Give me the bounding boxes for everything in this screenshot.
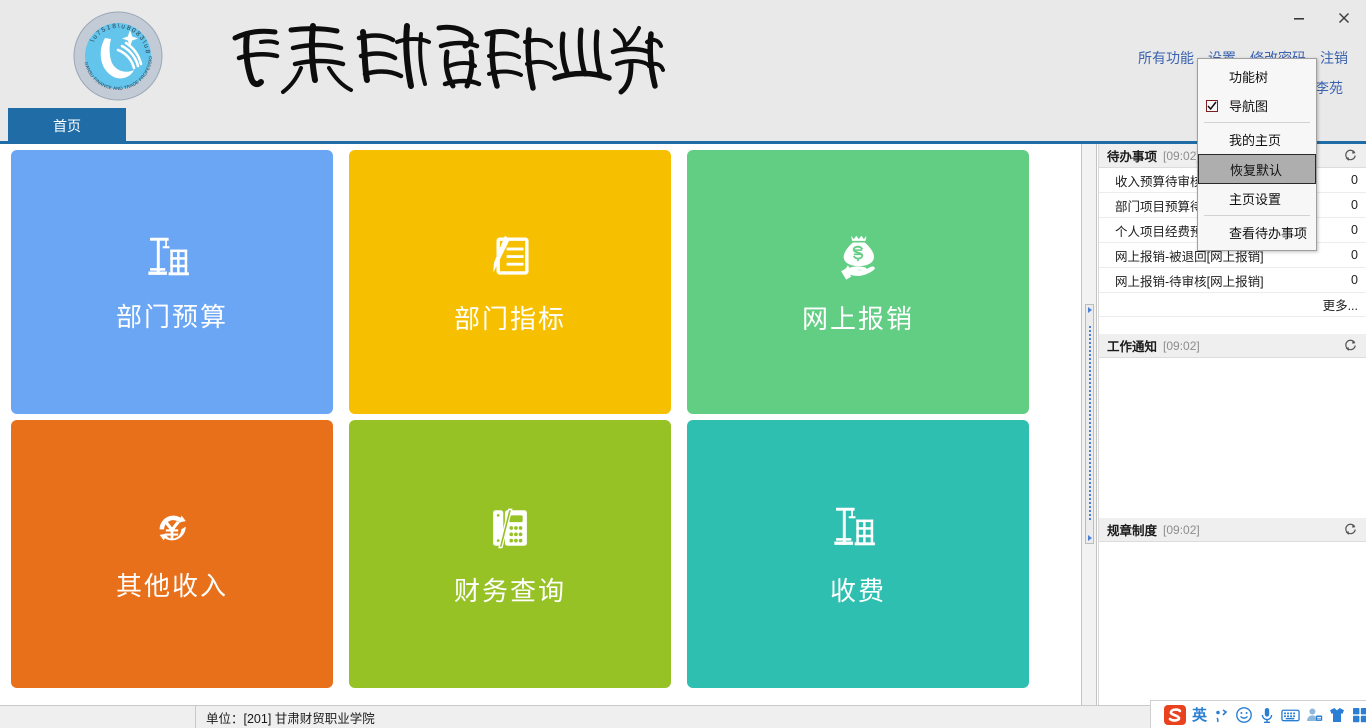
splitter-arrow-down-icon xyxy=(1088,535,1092,541)
tile-other-income[interactable]: 其他收入 xyxy=(11,420,333,688)
menu-item-label: 恢复默认 xyxy=(1230,160,1282,179)
todo-label: 收入预算待审核 xyxy=(1115,171,1203,190)
tile-label: 部门预算 xyxy=(116,297,228,334)
tile-label: 部门指标 xyxy=(454,299,566,336)
todo-count: 0 xyxy=(1351,198,1358,212)
menu-item-function-tree[interactable]: 功能树 xyxy=(1198,62,1316,91)
tile-label: 其他收入 xyxy=(116,566,228,603)
user-account-icon[interactable] xyxy=(1305,705,1323,724)
notice-panel-title: 工作通知 xyxy=(1107,336,1157,355)
yuan-recycle-icon xyxy=(150,506,194,550)
tiles-grid: 部门预算 部门指标 xyxy=(11,150,1029,688)
todo-more-link[interactable]: 更多... xyxy=(1099,293,1366,317)
menu-item-label: 我的主页 xyxy=(1229,130,1281,149)
window-controls xyxy=(1276,0,1366,36)
rules-panel-title: 规章制度 xyxy=(1107,520,1157,539)
todo-count: 0 xyxy=(1351,273,1358,287)
todo-count: 0 xyxy=(1351,248,1358,262)
splitter-grip[interactable] xyxy=(1085,304,1094,544)
tile-finance-query[interactable]: 财务查询 xyxy=(349,420,671,688)
current-user-name: 李苑 xyxy=(1315,78,1343,98)
crane-building-icon xyxy=(831,501,885,555)
refresh-icon[interactable] xyxy=(1343,338,1358,353)
list-item[interactable]: 网上报销-待审核[网上报销] 0 xyxy=(1099,268,1366,293)
todo-label: 网上报销-待审核[网上报销] xyxy=(1115,271,1264,290)
splitter-arrow-up-icon xyxy=(1088,307,1092,313)
toolbox-grid-icon[interactable] xyxy=(1351,705,1366,724)
close-icon[interactable] xyxy=(1321,3,1366,33)
tab-home[interactable]: 首页 xyxy=(8,108,126,143)
pen-document-icon xyxy=(483,229,537,283)
todo-panel-time: [09:02] xyxy=(1163,149,1200,163)
refresh-icon[interactable] xyxy=(1343,522,1358,537)
menu-item-label: 查看待办事项 xyxy=(1229,223,1307,242)
notice-panel-body xyxy=(1099,358,1366,518)
app-header: \u7518\u8083\u8d22\u8d38\u804c\u4e1a\u5b… xyxy=(0,0,1366,108)
menu-item-navigation-map[interactable]: 导航图 xyxy=(1198,91,1316,120)
menu-separator xyxy=(1204,122,1310,123)
calculator-icon xyxy=(483,501,537,555)
settings-dropdown-menu: 功能树 导航图 我的主页 恢复默认 主页设置 查看待办事项 xyxy=(1197,58,1317,251)
todo-count: 0 xyxy=(1351,223,1358,237)
menu-item-homepage-settings[interactable]: 主页设置 xyxy=(1198,184,1316,213)
punctuation-icon[interactable] xyxy=(1212,705,1230,724)
menu-item-view-todo[interactable]: 查看待办事项 xyxy=(1198,218,1316,247)
rules-panel-body xyxy=(1099,542,1366,682)
microphone-icon[interactable] xyxy=(1258,705,1276,724)
application-window: \u7518\u8083\u8d22\u8d38\u804c\u4e1a\u5b… xyxy=(0,0,1366,728)
menu-item-label: 功能树 xyxy=(1229,67,1268,86)
tile-charging[interactable]: 收费 xyxy=(687,420,1029,688)
college-logo: \u7518\u8083\u8d22\u8d38\u804c\u4e1a\u5b… xyxy=(68,6,168,98)
main-content: 部门预算 部门指标 xyxy=(0,144,1366,705)
todo-count: 0 xyxy=(1351,173,1358,187)
menu-item-label: 主页设置 xyxy=(1229,189,1281,208)
tile-online-reimbursement[interactable]: 网上报销 xyxy=(687,150,1029,414)
tile-label: 网上报销 xyxy=(802,299,914,336)
nav-logout[interactable]: 注销 xyxy=(1320,48,1348,68)
tile-label: 财务查询 xyxy=(454,571,566,608)
emoji-icon[interactable] xyxy=(1235,705,1253,724)
panel-splitter[interactable] xyxy=(1081,144,1097,705)
checkbox-checked-icon xyxy=(1206,100,1218,112)
rules-panel-header: 规章制度 [09:02] xyxy=(1099,518,1366,542)
rules-panel-time: [09:02] xyxy=(1163,523,1200,537)
tile-department-indicator[interactable]: 部门指标 xyxy=(349,150,671,414)
tile-department-budget[interactable]: 部门预算 xyxy=(11,150,333,414)
input-mode-english-icon[interactable]: 英 xyxy=(1192,705,1207,724)
money-bag-hand-icon xyxy=(831,229,885,283)
ime-toolbar: 英 xyxy=(1150,700,1366,728)
minimize-button[interactable] xyxy=(1276,3,1321,33)
skin-shirt-icon[interactable] xyxy=(1328,705,1346,724)
soft-keyboard-icon[interactable] xyxy=(1281,705,1300,724)
status-cell-empty xyxy=(0,706,196,728)
navigation-tiles-pane: 部门预算 部门指标 xyxy=(0,144,1081,705)
nav-all-functions[interactable]: 所有功能 xyxy=(1138,48,1194,68)
notice-panel-header: 工作通知 [09:02] xyxy=(1099,334,1366,358)
refresh-icon[interactable] xyxy=(1343,148,1358,163)
menu-separator xyxy=(1204,215,1310,216)
splitter-dots xyxy=(1089,326,1091,522)
tile-label: 收费 xyxy=(830,571,886,608)
menu-item-restore-default[interactable]: 恢复默认 xyxy=(1198,154,1316,184)
tab-bar: 首页 xyxy=(0,108,1366,143)
menu-item-label: 导航图 xyxy=(1229,96,1268,115)
brand-title xyxy=(225,8,665,98)
tab-home-label: 首页 xyxy=(53,116,81,136)
menu-item-my-homepage[interactable]: 我的主页 xyxy=(1198,125,1316,154)
todo-panel-title: 待办事项 xyxy=(1107,146,1157,165)
sogou-logo-icon[interactable] xyxy=(1163,703,1187,727)
notice-panel-time: [09:02] xyxy=(1163,339,1200,353)
crane-building-icon xyxy=(145,231,199,285)
